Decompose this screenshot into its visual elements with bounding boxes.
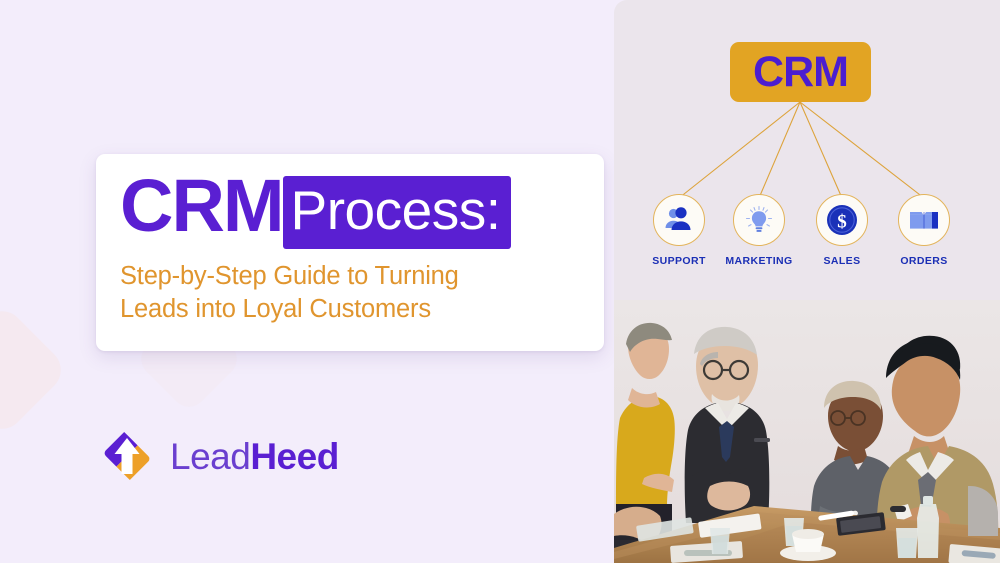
page-title-crm: CRM [120, 170, 283, 241]
subtitle-line-1: Step-by-Step Guide to Turning [120, 260, 580, 293]
diagram-root-node[interactable]: CRM [730, 42, 871, 102]
water-glass-3 [896, 528, 918, 558]
dollar-coin-icon: $ [825, 203, 859, 237]
subtitle-line-2: Leads into Loyal Customers [120, 293, 580, 326]
diagram-node-label: SUPPORT [640, 255, 718, 267]
logo-word-lead: Lead [170, 436, 250, 477]
right-panel: CRM SUPPORT [614, 0, 1000, 563]
diagram-root-node-label: CRM [753, 51, 848, 94]
logo-word-heed: Heed [250, 436, 338, 477]
page-title-highlight: Process: [283, 176, 511, 249]
svg-text:$: $ [837, 211, 847, 232]
node-circle-sales: $ [816, 194, 868, 246]
left-panel: CRM Process: Step-by-Step Guide to Turni… [0, 0, 616, 563]
brand-logo: LeadHeed [98, 427, 339, 485]
meeting-photo-illustration [614, 300, 1000, 563]
decorative-diamond-shape [0, 302, 70, 438]
node-circle-support [653, 194, 705, 246]
diagram-node-orders[interactable]: ORDERS [885, 194, 963, 267]
subtitle: Step-by-Step Guide to Turning Leads into… [120, 260, 580, 325]
people-icon [664, 206, 694, 234]
title-card: CRM Process: Step-by-Step Guide to Turni… [96, 154, 604, 351]
package-box-icon [908, 207, 940, 233]
diagram-node-sales[interactable]: $ SALES [803, 194, 881, 267]
logo-mark-icon [98, 427, 156, 485]
diagram-node-marketing[interactable]: MARKETING [720, 194, 798, 267]
meeting-photo [614, 300, 1000, 563]
lightbulb-icon [743, 204, 775, 236]
diagram-node-label: ORDERS [885, 255, 963, 267]
diagram-node-support[interactable]: SUPPORT [640, 194, 718, 267]
logo-wordmark: LeadHeed [170, 438, 339, 475]
node-circle-marketing [733, 194, 785, 246]
diagram-node-label: MARKETING [720, 255, 798, 267]
water-glass-1 [710, 528, 730, 554]
water-bottle [917, 496, 939, 558]
slide-canvas: CRM Process: Step-by-Step Guide to Turni… [0, 0, 1000, 563]
diagram-node-label: SALES [803, 255, 881, 267]
title-heading-row: CRM Process: [120, 170, 580, 249]
node-circle-orders [898, 194, 950, 246]
